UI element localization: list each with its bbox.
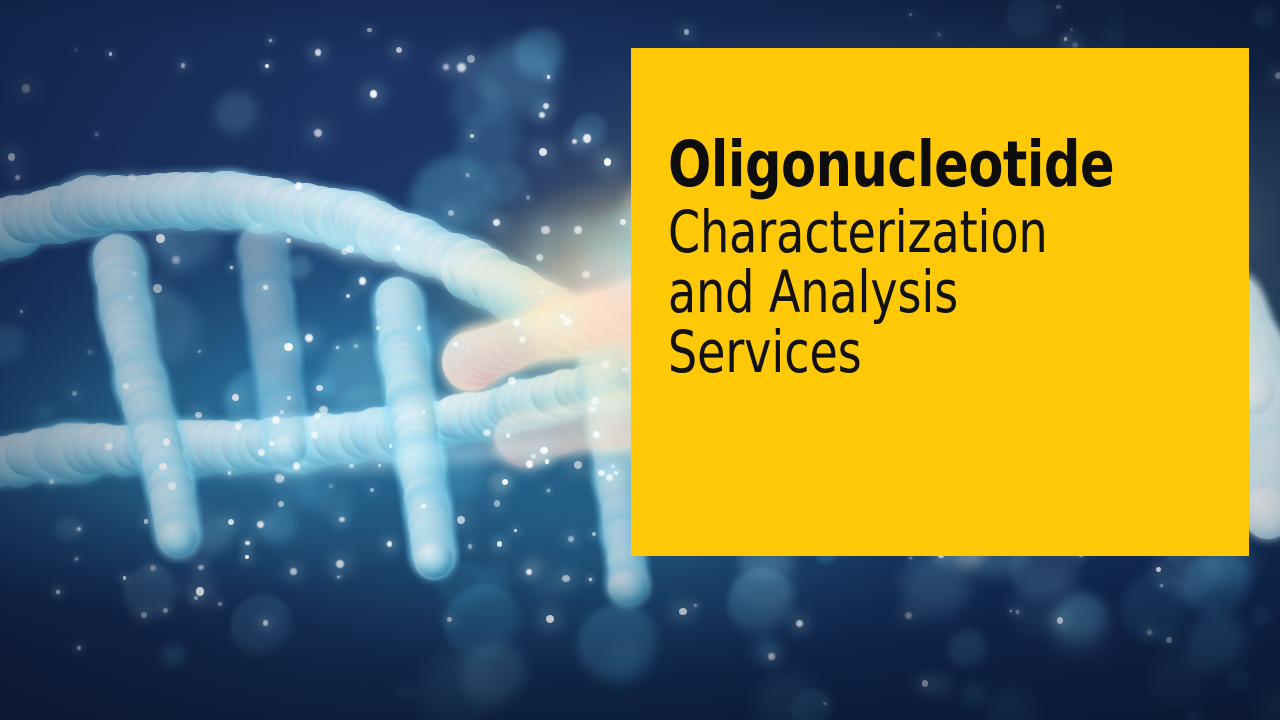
title-panel: Oligonucleotide Characterization and Ana…	[631, 48, 1249, 556]
title-line-primary: Oligonucleotide	[668, 134, 1164, 196]
title-line-secondary-3: Services	[668, 322, 1153, 382]
title-line-secondary-2: and Analysis	[668, 262, 1153, 322]
slide-canvas: Oligonucleotide Characterization and Ana…	[0, 0, 1280, 720]
title-line-secondary-1: Characterization	[668, 202, 1153, 262]
title-panel-text-block: Oligonucleotide Characterization and Ana…	[668, 134, 1219, 383]
